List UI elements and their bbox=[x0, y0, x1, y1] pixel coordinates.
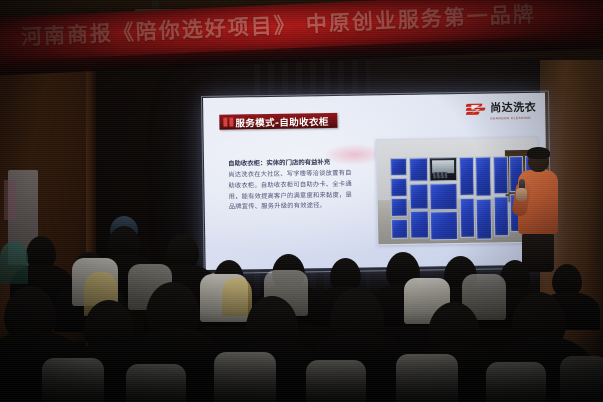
presenter-hand bbox=[516, 188, 527, 201]
projection-screen: 服务模式-自助收衣柜 尚达洗衣 SHANGDA CLEANING 自助收衣柜：实… bbox=[203, 93, 548, 270]
screen-frame bbox=[201, 91, 552, 274]
wall-accent-panel bbox=[4, 180, 16, 220]
left-wall-edge bbox=[86, 48, 96, 348]
presenter-hair bbox=[527, 147, 550, 159]
photo-scene: 河南商报《陪你选好项目》 中原创业服务第一品牌 服务模式-自助收衣柜 尚达洗衣 … bbox=[0, 0, 603, 402]
presenter-legs bbox=[522, 232, 554, 272]
presenter bbox=[510, 148, 566, 268]
